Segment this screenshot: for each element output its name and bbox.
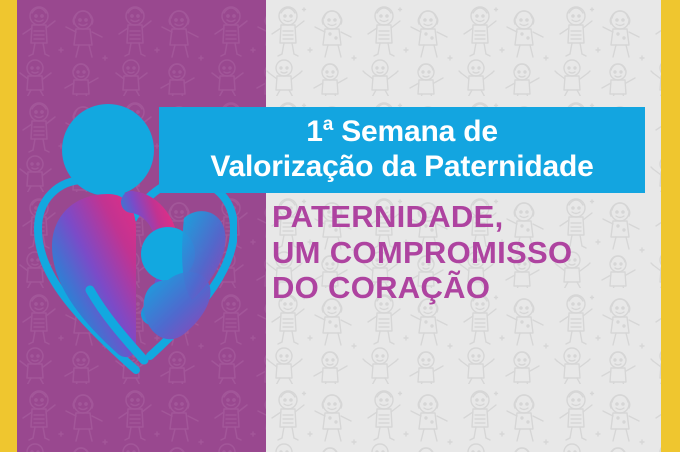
right-yellow-border (661, 0, 680, 452)
event-title-banner: 1a Semana de Valorização da Paternidade (159, 107, 645, 193)
banner-ordinal-number: 1 (306, 115, 323, 148)
banner-line-2: Valorização da Paternidade (210, 150, 593, 185)
banner-line-1: 1a Semana de (306, 115, 498, 150)
slogan-headline: PATERNIDADE, UM COMPROMISSO DO CORAÇÃO (272, 199, 662, 306)
slogan-line-3: DO CORAÇÃO (272, 270, 662, 306)
banner-ordinal-suffix: a (323, 114, 333, 135)
slogan-line-1: PATERNIDADE, (272, 199, 662, 235)
slogan-line-2: UM COMPROMISSO (272, 235, 662, 271)
left-yellow-border (0, 0, 17, 452)
banner-line-1-rest: Semana de (333, 115, 498, 148)
poster-canvas: 1a Semana de Valorização da Paternidade … (0, 0, 680, 452)
